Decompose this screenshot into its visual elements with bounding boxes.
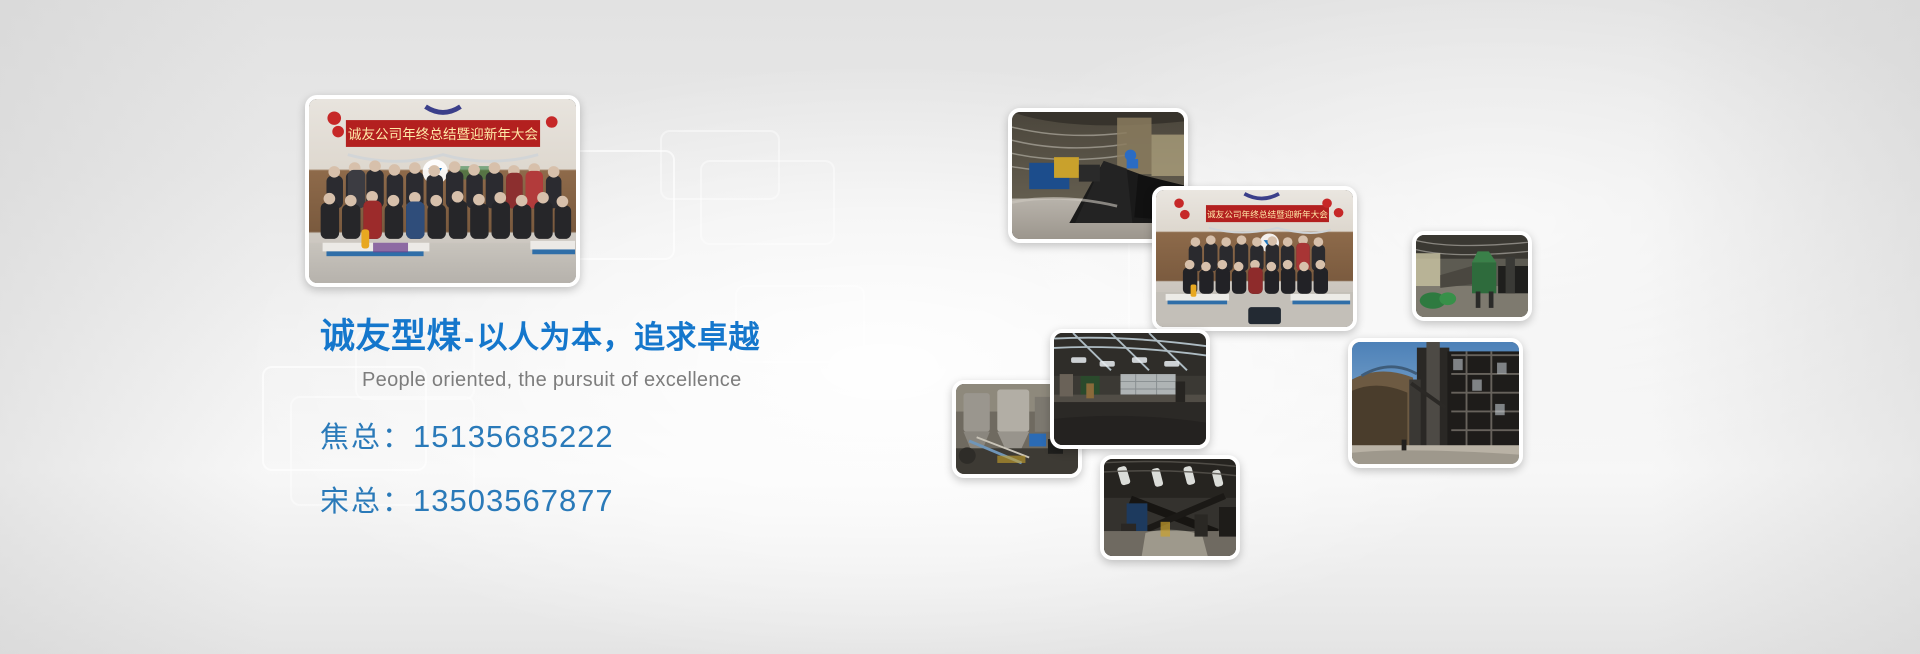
slogan-motto: 以人为本，追求卓越 [477, 320, 761, 355]
photo-green-machinery[interactable] [1412, 231, 1532, 321]
headline-block: 诚友型煤-以人为本，追求卓越 People oriented, the purs… [320, 318, 1020, 520]
photo-group-photo-main-image: 诚友公司年终总结暨迎新年大会 [309, 99, 576, 283]
contact-phone-2[interactable]: 13503567877 [413, 483, 614, 518]
photo-green-machinery-image [1416, 235, 1528, 317]
svg-text:诚友公司年终总结暨迎新年大会: 诚友公司年终总结暨迎新年大会 [348, 127, 538, 143]
photo-group-photo-small-image: 诚友公司年终总结暨迎新年大会 [1156, 190, 1353, 327]
slogan-subtitle: People oriented, the pursuit of excellen… [362, 369, 1020, 392]
photo-workshop-interior-image [1104, 459, 1236, 556]
photo-conveyor-tower-image [1352, 342, 1519, 464]
photo-factory-hall[interactable] [1050, 329, 1210, 449]
photo-workshop-interior[interactable] [1100, 455, 1240, 560]
photo-group-photo-main[interactable]: 诚友公司年终总结暨迎新年大会 [305, 95, 580, 287]
slogan-separator: - [462, 322, 477, 355]
slogan-line: 诚友型煤-以人为本，追求卓越 [320, 318, 1020, 357]
photo-factory-hall-image [1054, 333, 1206, 445]
decor-frame-top-right-2 [700, 160, 835, 245]
contact-row-1: 焦总：15135685222 [320, 414, 1020, 456]
brand-name: 诚友型煤 [320, 317, 462, 356]
svg-text:诚友公司年终总结暨迎新年大会: 诚友公司年终总结暨迎新年大会 [1207, 208, 1328, 220]
contact-name-1: 焦总： [320, 422, 413, 454]
photo-conveyor-tower[interactable] [1348, 338, 1523, 468]
photo-group-photo-small[interactable]: 诚友公司年终总结暨迎新年大会 [1152, 186, 1357, 331]
promo-banner: 诚友公司年终总结暨迎新年大会 [0, 0, 1920, 654]
contact-phone-1[interactable]: 15135685222 [413, 419, 614, 454]
contact-row-2: 宋总：13503567877 [320, 478, 1020, 520]
contact-name-2: 宋总： [320, 486, 413, 518]
